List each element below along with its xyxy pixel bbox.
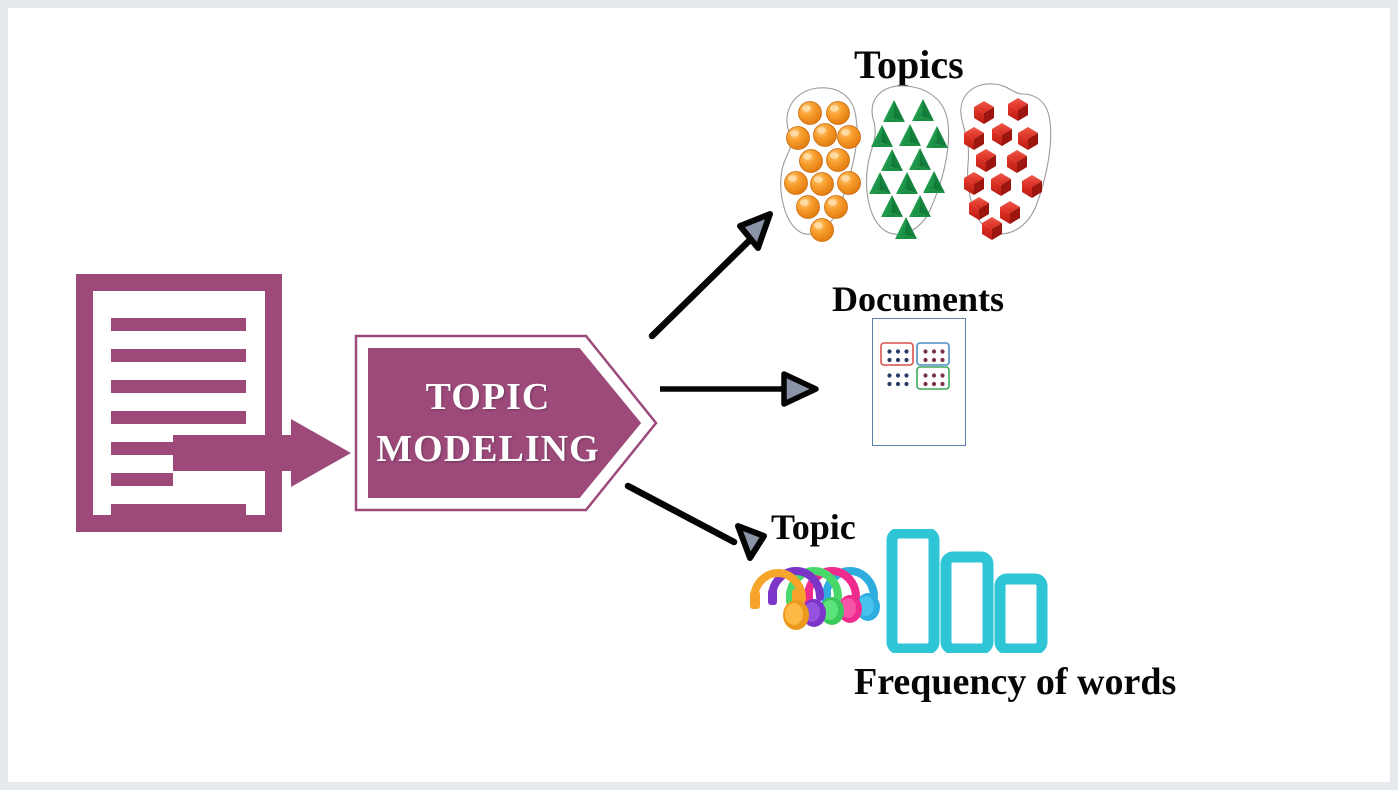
document-line: [111, 318, 246, 331]
pentagon-arrow-outline: [354, 334, 658, 512]
frequency-of-words-title: Frequency of words: [854, 660, 1176, 704]
document-output-arrow-icon: [173, 419, 351, 487]
cluster-outline-green: [867, 86, 949, 234]
dot-group-blue: [917, 343, 949, 365]
document-line: [111, 380, 246, 393]
dot-group-green: [917, 367, 949, 389]
document-frame: [76, 274, 282, 532]
document-line: [111, 349, 246, 362]
arrow-to-documents: [658, 370, 822, 408]
document-line: [111, 473, 173, 486]
dot-group-red: [881, 343, 913, 365]
bar-3: [1000, 579, 1042, 649]
topic-modeling-process-shape[interactable]: TOPIC MODELING: [354, 334, 658, 512]
bar-1: [892, 533, 934, 649]
topic-title: Topic: [771, 506, 856, 548]
documents-title: Documents: [832, 278, 1004, 320]
document-page-icon: [872, 318, 966, 446]
document-line: [111, 442, 173, 455]
topics-clusters-icon: [770, 80, 1060, 246]
headphones-icon: [744, 545, 880, 635]
arrow-to-topics: [648, 208, 782, 340]
dot-group-plain: [887, 373, 908, 386]
frequency-bar-chart: [886, 529, 1048, 653]
document-stack-icon: [76, 274, 282, 532]
bar-2: [946, 557, 988, 649]
slide-canvas: TOPIC MODELING Topics: [8, 8, 1390, 782]
document-line: [111, 504, 246, 517]
